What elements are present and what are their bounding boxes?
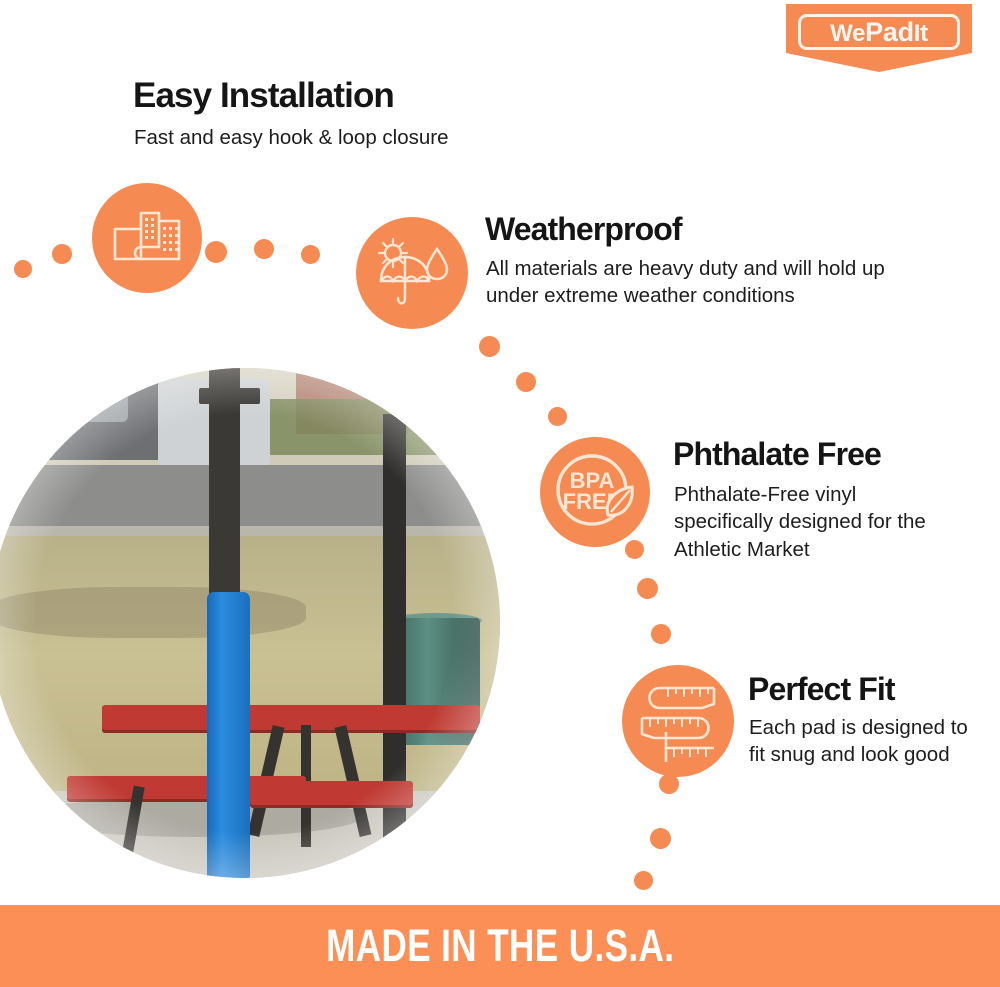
brand-logo[interactable]: WePadIt: [786, 4, 972, 72]
trail-dot: [625, 540, 644, 559]
trail-dot: [205, 241, 227, 263]
feature-title-perfect-fit: Perfect Fit: [748, 673, 895, 707]
trail-dot: [254, 239, 274, 259]
photo-vignette: [0, 368, 500, 878]
logo-word-it: It: [914, 20, 928, 47]
infographic-page: WePadIt Easy Installation Fast and easy …: [0, 0, 1000, 987]
trail-dot: [14, 260, 32, 278]
made-in-usa-banner: MADE IN THE U.S.A.: [0, 905, 1000, 987]
trail-dot: [301, 245, 320, 264]
umbrella-sun-rain-icon-badge: [356, 217, 468, 329]
umbrella-sun-rain-icon: [373, 237, 451, 309]
hook-and-loop-icon: [111, 207, 183, 269]
trail-dot: [52, 244, 72, 264]
logo-word-pad: Pad: [865, 17, 914, 47]
trail-dot: [651, 624, 671, 644]
feature-title-phthalate-free: Phthalate Free: [673, 438, 881, 472]
hook-and-loop-icon-badge: [92, 183, 202, 293]
logo-wordmark: WePadIt: [830, 19, 928, 46]
measuring-tape-icon-badge: [622, 665, 734, 777]
feature-description-phthalate-free: Phthalate-Free vinyl specifically design…: [674, 481, 944, 563]
trail-dot: [548, 407, 567, 426]
logo-word-we: We: [830, 20, 865, 47]
trail-dot: [659, 774, 679, 794]
bpa-free-leaf-icon-badge: BPA FREE: [540, 437, 650, 547]
measuring-tape-icon: [636, 680, 720, 762]
trail-dot: [479, 336, 500, 357]
feature-description-weatherproof: All materials are heavy duty and will ho…: [486, 255, 916, 310]
feature-title-easy-installation: Easy Installation: [133, 78, 394, 115]
trail-dot: [634, 871, 653, 890]
feature-description-easy-installation: Fast and easy hook & loop closure: [134, 124, 554, 151]
feature-description-perfect-fit: Each pad is designed to fit snug and loo…: [749, 714, 979, 769]
trail-dot: [637, 578, 658, 599]
trail-dot: [516, 372, 536, 392]
trail-dot: [650, 828, 671, 849]
product-photo: [0, 368, 500, 878]
bpa-free-leaf-icon: BPA FREE: [546, 443, 644, 541]
feature-title-weatherproof: Weatherproof: [485, 213, 682, 247]
made-in-usa-text: MADE IN THE U.S.A.: [326, 920, 674, 972]
logo-border-box: WePadIt: [798, 14, 960, 50]
